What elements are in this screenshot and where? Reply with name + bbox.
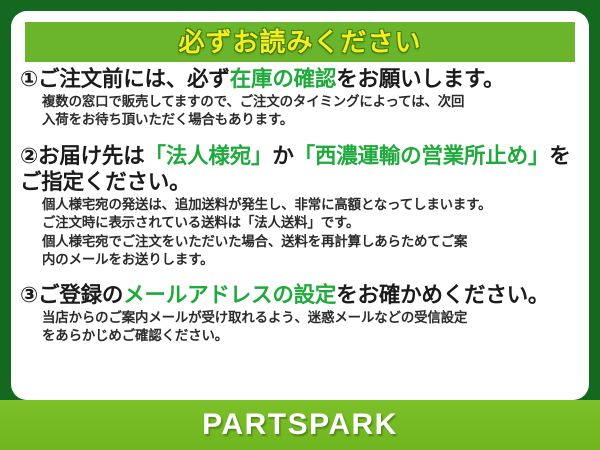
notice-item-3-heading: ③ご登録のメールアドレスの設定をお確かめください。 xyxy=(20,282,580,309)
notice-item-2-heading-part-0: お届け先は xyxy=(38,144,145,168)
notice-item-3: ③ご登録のメールアドレスの設定をお確かめください。 当店からのご案内メールが受け… xyxy=(20,282,580,346)
footer-bar: PARTSPARK xyxy=(0,400,600,450)
notice-list: ①ご注文前には、必ず在庫の確認をお願いします。 複数の窓口で販売してますので、ご… xyxy=(11,66,589,346)
notice-item-2-sub-line-3: 個人様宅宛でご注文をいただいた場合、送料を再計算しあらためてご案 xyxy=(42,233,580,252)
notice-item-3-marker: ③ xyxy=(20,283,38,307)
notice-item-1-marker: ① xyxy=(20,67,38,91)
notice-card: 必ずお読みください ①ご注文前には、必ず在庫の確認をお願いします。 複数の窓口で… xyxy=(0,0,600,450)
header-bar: 必ずお読みください xyxy=(25,22,575,62)
page-title: 必ずお読みください xyxy=(178,29,421,55)
spacer-1 xyxy=(20,130,580,143)
content-panel: 必ずお読みください ①ご注文前には、必ず在庫の確認をお願いします。 複数の窓口で… xyxy=(11,11,589,400)
notice-item-2-sub-line-4: 内のメールをお送りします。 xyxy=(42,251,580,270)
notice-item-1-heading-highlight: 在庫の確認 xyxy=(230,67,337,91)
notice-item-2-sub-line-2: ご注文時に表示されている送料は「法人送料」です。 xyxy=(42,214,580,233)
notice-item-3-heading-part-0: ご登録の xyxy=(38,283,123,307)
notice-item-2-heading: ②お届け先は「法人様宛」か「西濃運輸の営業所止め」をご指定ください。 xyxy=(20,143,580,196)
brand-logo: PARTSPARK xyxy=(202,410,398,440)
notice-item-1-sub-line-1: 複数の窓口で販売してますので、ご注文のタイミングによっては、次回 xyxy=(42,93,580,112)
notice-item-1-sub-line-2: 入荷をお待ち頂いただく場合もあります。 xyxy=(42,111,580,130)
notice-item-2-heading-highlight-2: 「西濃運輸の営業所止め」 xyxy=(294,144,550,168)
notice-item-2-heading-highlight-1: 「法人様宛」 xyxy=(145,144,273,168)
notice-item-1-heading-part-2: をお願いします。 xyxy=(336,67,504,91)
notice-item-2-heading-part-2: か xyxy=(272,144,293,168)
notice-item-2-marker: ② xyxy=(20,144,38,168)
notice-item-1: ①ご注文前には、必ず在庫の確認をお願いします。 複数の窓口で販売してますので、ご… xyxy=(20,66,580,130)
notice-item-2: ②お届け先は「法人様宛」か「西濃運輸の営業所止め」をご指定ください。 個人様宅宛… xyxy=(20,143,580,270)
notice-item-3-sub-line-1: 当店からのご案内メールが受け取れるよう、迷惑メールなどの受信設定 xyxy=(42,309,580,328)
spacer-2 xyxy=(20,270,580,282)
notice-item-3-sub-line-2: をあらかじめご確認ください。 xyxy=(42,327,580,346)
notice-item-1-heading-part-0: ご注文前には、必ず xyxy=(38,67,230,91)
notice-item-3-heading-part-2: をお確かめください。 xyxy=(336,283,549,307)
notice-item-1-heading: ①ご注文前には、必ず在庫の確認をお願いします。 xyxy=(20,66,580,93)
notice-item-2-sub-line-1: 個人様宅宛の発送は、追加送料が発生し、非常に高額となってしまいます。 xyxy=(42,196,580,215)
notice-item-3-heading-highlight: メールアドレスの設定 xyxy=(123,283,336,307)
